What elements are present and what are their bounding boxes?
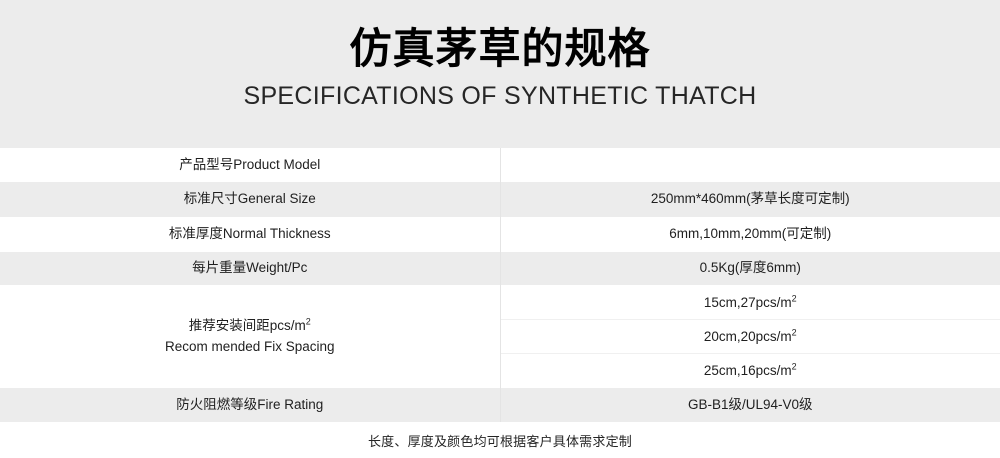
row-label-general-size: 标准尺寸General Size bbox=[0, 182, 500, 217]
fix-spacing-value-1-sup: 2 bbox=[792, 293, 797, 303]
row-label-fire-rating: 防火阻燃等级Fire Rating bbox=[0, 388, 500, 422]
row-label-fix-spacing: 推荐安装间距pcs/m2 Recom mended Fix Spacing bbox=[0, 285, 500, 388]
table-row-fix-spacing: 推荐安装间距pcs/m2 Recom mended Fix Spacing 15… bbox=[0, 285, 1000, 388]
fix-spacing-value-1: 15cm,27pcs/m bbox=[704, 295, 792, 310]
row-label-product-model: 产品型号Product Model bbox=[0, 148, 500, 182]
row-value-weight-per-pc: 0.5Kg(厚度6mm) bbox=[500, 252, 1000, 285]
footer-note-text: 长度、厚度及颜色均可根据客户具体需求定制 bbox=[368, 431, 632, 450]
row-value-product-model bbox=[500, 148, 1000, 182]
row-label-normal-thickness: 标准厚度Normal Thickness bbox=[0, 217, 500, 252]
row-value-fire-rating: GB-B1级/UL94-V0级 bbox=[500, 388, 1000, 422]
page-header: 仿真茅草的规格 SPECIFICATIONS OF SYNTHETIC THAT… bbox=[0, 0, 1000, 148]
list-item: 15cm,27pcs/m2 bbox=[501, 286, 1000, 320]
fix-spacing-value-2-sup: 2 bbox=[792, 327, 797, 337]
fix-spacing-label-cn-sup: 2 bbox=[306, 316, 311, 326]
table-row: 产品型号Product Model bbox=[0, 148, 1000, 182]
table-row: 标准厚度Normal Thickness 6mm,10mm,20mm(可定制) bbox=[0, 217, 1000, 252]
fix-spacing-label-cn: 推荐安装间距pcs/m2 bbox=[0, 316, 500, 337]
fix-spacing-value-3: 25cm,16pcs/m bbox=[704, 363, 792, 378]
footer-note: 长度、厚度及颜色均可根据客户具体需求定制 bbox=[0, 422, 1000, 458]
list-item: 25cm,16pcs/m2 bbox=[501, 354, 1000, 388]
fix-spacing-label-en: Recom mended Fix Spacing bbox=[0, 337, 500, 358]
row-value-general-size: 250mm*460mm(茅草长度可定制) bbox=[500, 182, 1000, 217]
fix-spacing-value-2: 20cm,20pcs/m bbox=[704, 329, 792, 344]
spec-sheet-page: 仿真茅草的规格 SPECIFICATIONS OF SYNTHETIC THAT… bbox=[0, 0, 1000, 458]
row-label-weight-per-pc: 每片重量Weight/Pc bbox=[0, 252, 500, 285]
page-subtitle: SPECIFICATIONS OF SYNTHETIC THATCH bbox=[243, 82, 756, 111]
fix-spacing-label-cn-text: 推荐安装间距pcs/m bbox=[189, 318, 306, 333]
table-row: 防火阻燃等级Fire Rating GB-B1级/UL94-V0级 bbox=[0, 388, 1000, 422]
specifications-table: 产品型号Product Model 标准尺寸General Size 250mm… bbox=[0, 148, 1000, 422]
row-value-normal-thickness: 6mm,10mm,20mm(可定制) bbox=[500, 217, 1000, 252]
table-row: 每片重量Weight/Pc 0.5Kg(厚度6mm) bbox=[0, 252, 1000, 285]
list-item: 20cm,20pcs/m2 bbox=[501, 320, 1000, 354]
row-values-fix-spacing: 15cm,27pcs/m2 20cm,20pcs/m2 25cm,16pcs/m… bbox=[500, 285, 1000, 388]
page-title: 仿真茅草的规格 bbox=[349, 25, 650, 73]
table-row: 标准尺寸General Size 250mm*460mm(茅草长度可定制) bbox=[0, 182, 1000, 217]
fix-spacing-value-3-sup: 2 bbox=[792, 361, 797, 371]
